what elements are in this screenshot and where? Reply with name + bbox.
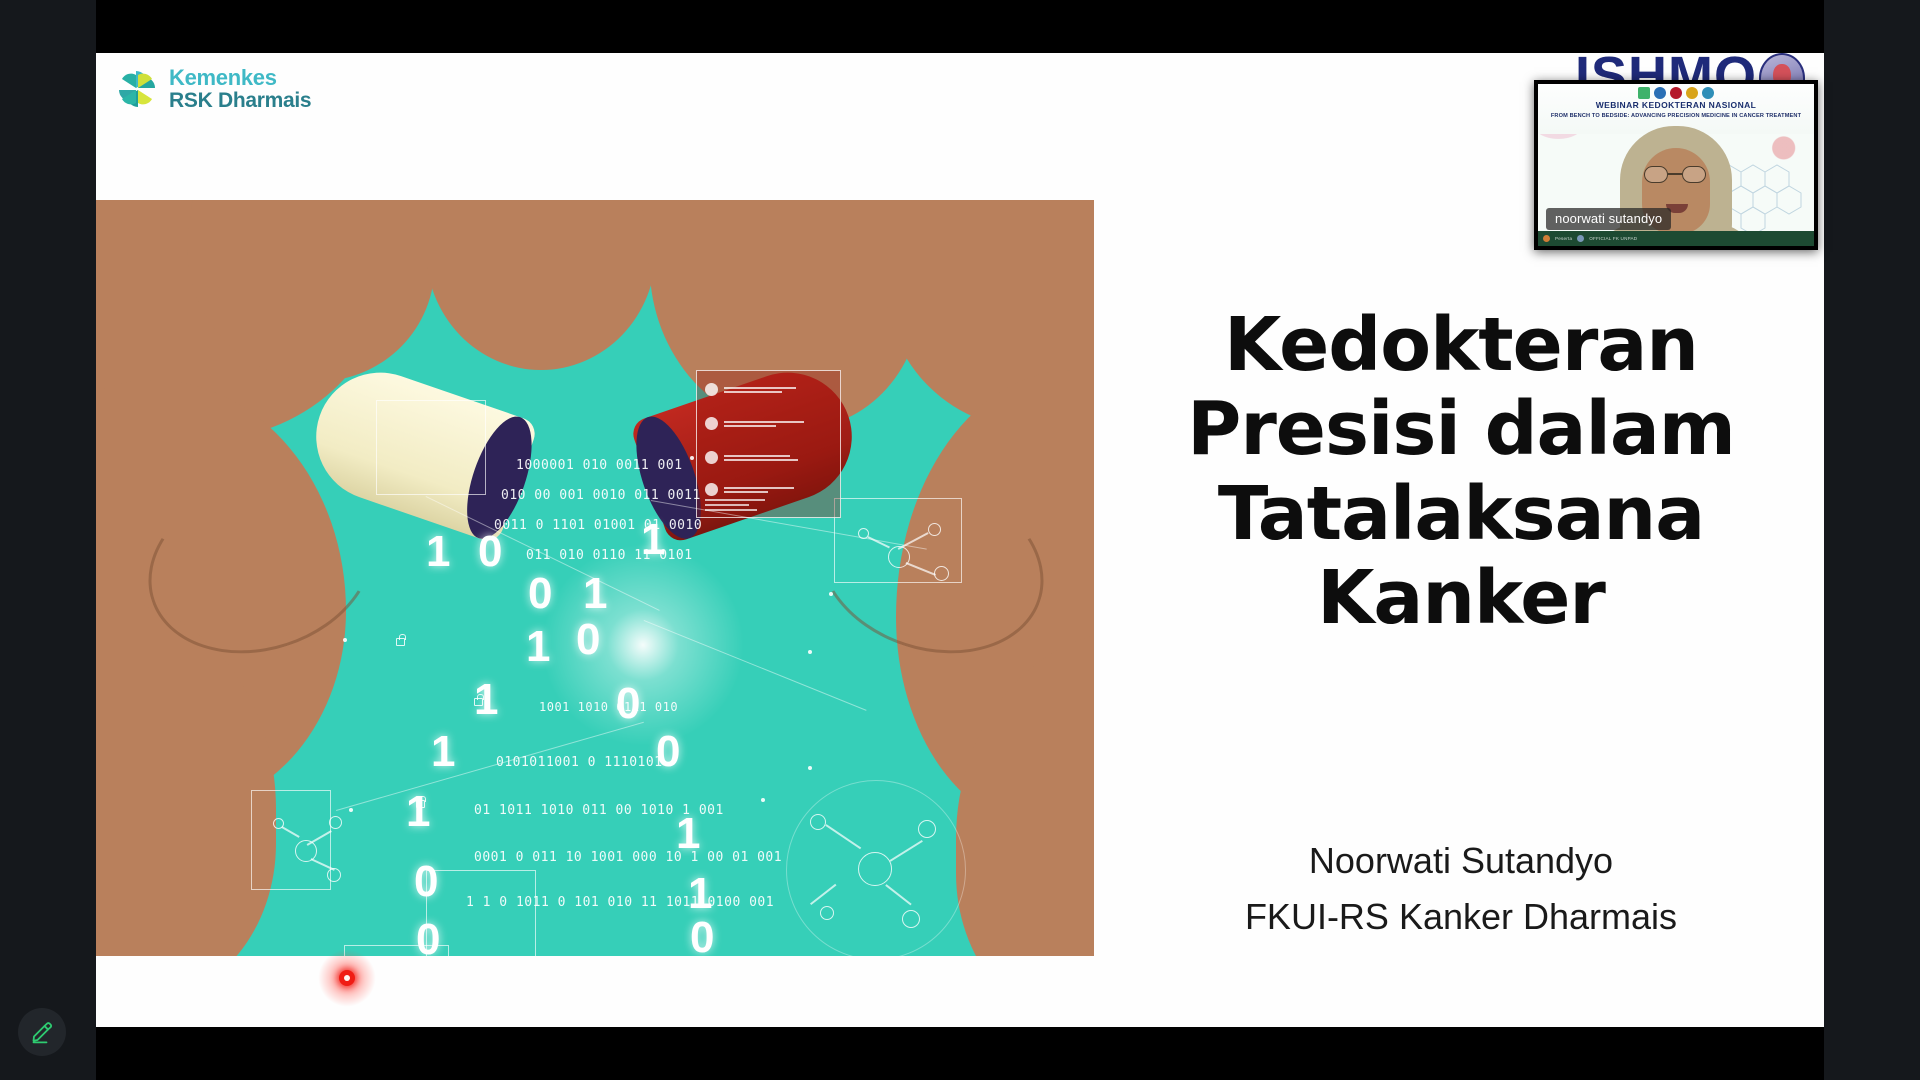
laser-pointer [332,963,362,993]
presenter-name: Noorwati Sutandyo [1116,833,1806,889]
binary-row: 1 1 0 1011 0 101 010 11 1011 0100 001 [466,895,774,910]
binary-row: 011 010 0110 11 0101 [526,548,693,563]
hud-point [761,798,765,802]
big-digit: 0 [616,682,640,726]
footer-text-right: OFFICIAL FK UNPAD [1589,236,1637,241]
big-digit: 1 [688,872,712,916]
title-line-4: Kanker [1116,556,1806,640]
lock-icon [396,638,405,646]
laser-pointer-core [339,970,355,986]
org-icon-1 [1654,87,1666,99]
presenter-block: Noorwati Sutandyo FKUI-RS Kanker Dharmai… [1116,833,1806,945]
page-title: Kedokteran Presisi dalam Tatalaksana Kan… [1116,303,1806,640]
kemenkes-logo: Kemenkes RSK Dharmais [114,66,311,112]
big-digit: 0 [478,530,502,574]
hud-box [376,400,486,495]
big-digit: 0 [690,916,714,956]
org-icon-2 [1670,87,1682,99]
finger-shape [426,200,656,370]
hud-point [829,592,833,596]
binary-row: 0001 0 011 10 1001 000 10 1 00 01 001 [474,850,782,865]
footer-icon-2 [1577,235,1584,242]
org-icon-3 [1686,87,1698,99]
capsule-precision-medicine-illustration: 1000001 010 0011 001 010 00 001 0010 011… [96,200,1094,956]
hud-box [426,870,536,956]
meeting-screen-share-view: Kemenkes RSK Dharmais ISHMO [0,0,1920,1080]
letterbox-bottom [96,1027,1824,1080]
logo-line-2: RSK Dharmais [169,90,311,111]
data-glow [528,530,758,760]
hud-point [690,456,694,460]
binary-row: 1000001 010 0011 001 [516,458,683,473]
big-digit: 0 [414,860,438,904]
banner-logos [1638,87,1714,99]
webcam-thumbnail[interactable]: WEBINAR KEDOKTERAN NASIONAL FROM BENCH T… [1534,80,1818,250]
hud-point [349,808,353,812]
logo-line-1: Kemenkes [169,67,311,89]
kemenkes-icon [1638,87,1650,99]
hud-point [808,650,812,654]
hud-info-card [696,370,841,518]
big-digit: 1 [641,518,665,562]
big-digit: 0 [576,618,600,662]
banner-subtitle: FROM BENCH TO BEDSIDE: ADVANCING PRECISI… [1538,113,1814,119]
title-line-3: Tatalaksana [1116,472,1806,556]
pencil-icon [29,1019,55,1045]
hud-box [251,790,331,890]
big-digit: 1 [431,730,455,774]
hud-point [808,766,812,770]
big-digit: 0 [528,572,552,616]
binary-row: 0011 0 1101 01001 01 0010 [494,518,702,533]
big-digit: 1 [676,812,700,856]
webcam-footer-bar: Peserta OFFICIAL FK UNPAD [1538,231,1814,246]
footer-text-left: Peserta [1555,236,1572,241]
big-digit: 1 [583,572,607,616]
letterbox-top [96,0,1824,53]
title-line-1: Kedokteran [1116,303,1806,387]
binary-row: 010 00 001 0010 011 0011 [501,488,701,503]
binary-row: 0101011001 0 1110101 [496,755,663,770]
org-icon-4 [1702,87,1714,99]
participant-name-label: noorwati sutandyo [1546,208,1671,230]
hud-connector [644,620,867,711]
big-digit: 1 [406,790,430,834]
title-line-2: Presisi dalam [1116,387,1806,471]
footer-icon-1 [1543,235,1550,242]
presenter-affiliation: FKUI-RS Kanker Dharmais [1116,889,1806,945]
big-digit: 1 [526,625,550,669]
big-digit: 0 [656,730,680,774]
annotate-button[interactable] [18,1008,66,1056]
binary-row: 1001 1010 0111 010 [539,700,678,714]
kemenkes-flower-icon [114,66,160,112]
big-digit: 0 [416,918,440,956]
big-digit: 1 [426,530,450,574]
banner-title: WEBINAR KEDOKTERAN NASIONAL [1538,100,1814,110]
big-digit: 1 [474,678,498,722]
hud-point [343,638,347,642]
webcam-video: WEBINAR KEDOKTERAN NASIONAL FROM BENCH T… [1538,84,1814,246]
